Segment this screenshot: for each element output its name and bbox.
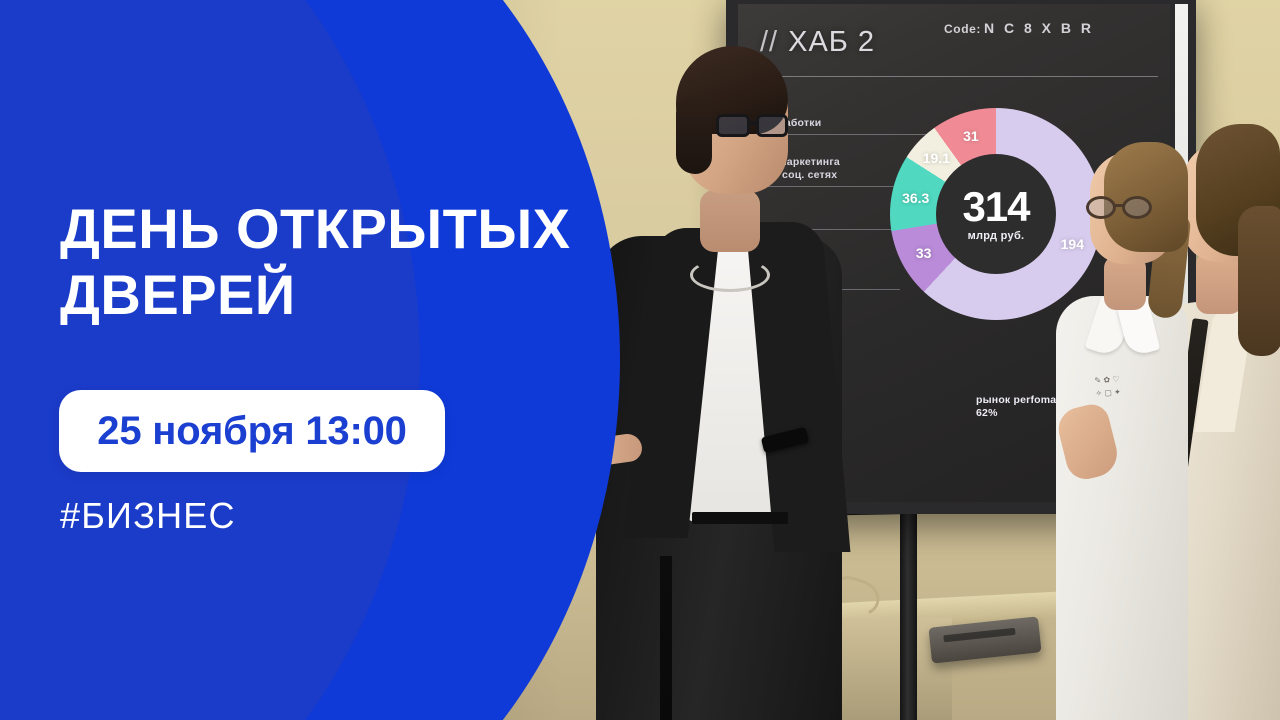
date-badge-text: 25 ноября 13:00 [97,409,406,454]
date-badge[interactable]: 25 ноября 13:00 [59,390,445,472]
hashtag-label: #БИЗНЕС [60,495,236,537]
woman2-hair-side [1238,206,1280,356]
donut-segment-label: 36.3 [902,190,929,206]
donut-segment-label: 31 [963,128,979,144]
slide-slashes: // [760,26,778,58]
donut-chart: 314 млрд руб. 1943336.319.131 [890,108,1102,320]
slide-title-text: ХАБ 2 [788,26,875,58]
slide-code: Code:N C 8 X B R [944,20,1094,36]
blue-arc-base [0,0,420,720]
donut-total-value: 314 [962,187,1029,227]
donut-total-unit: млрд руб. [968,230,1025,242]
woman1-neck [1104,256,1146,310]
donut-segment-label: 19.1 [923,150,950,166]
donut-segment-label: 33 [916,245,932,261]
slide-title: //ХАБ 2 [760,26,875,59]
man-glasses-icon [716,114,788,138]
slide-code-label: Code: [944,22,981,36]
headline-line-1: ДЕНЬ ОТКРЫТЫХ [60,197,571,260]
blue-overlay-panel [0,0,720,720]
headline-line-2: ДВЕРЕЙ [60,262,660,328]
donut-center: 314 млрд руб. [936,154,1056,274]
woman1-glasses-icon [1086,196,1152,220]
poster-canvas: //ХАБ 2 Code:N C 8 X B R разработки тент… [0,0,1280,720]
tv-stand-post [900,500,917,720]
slide-divider [758,76,1158,77]
page-title: ДЕНЬ ОТКРЫТЫХ ДВЕРЕЙ [60,196,660,328]
leader-line-2 [768,186,903,187]
slide-code-value: N C 8 X B R [984,20,1094,36]
donut-segment-label: 194 [1061,236,1084,252]
woman1-torso [1056,296,1188,720]
